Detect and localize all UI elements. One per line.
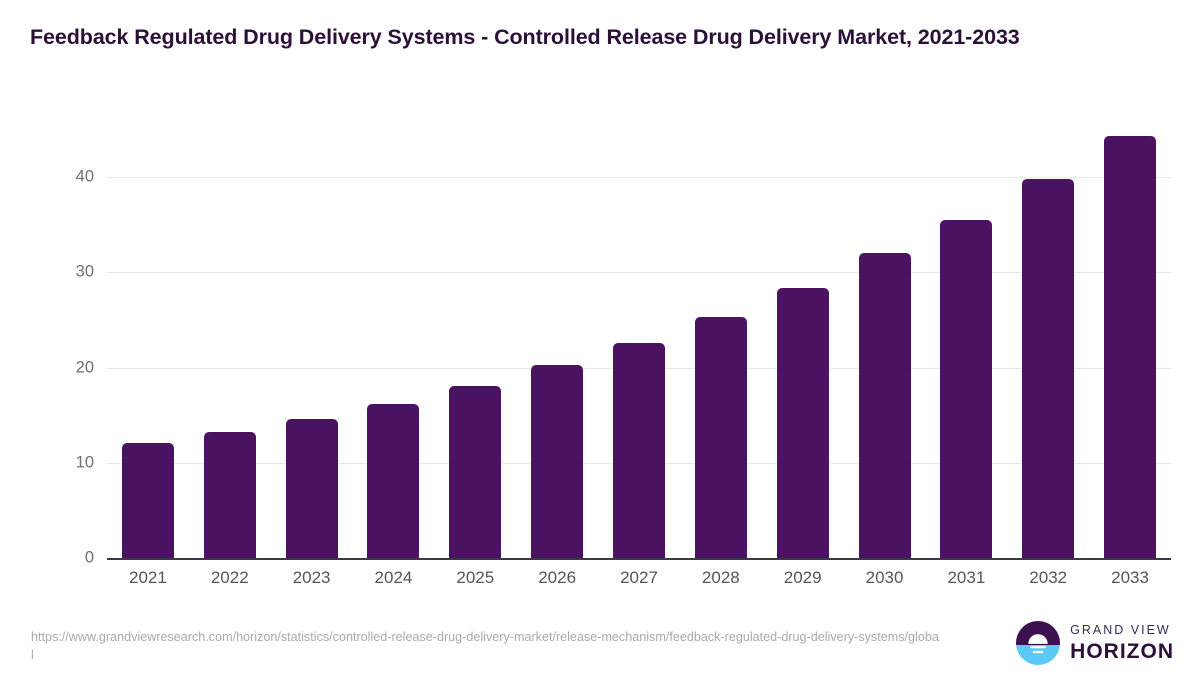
bar[interactable] (204, 432, 256, 558)
bar[interactable] (449, 386, 501, 558)
source-url[interactable]: https://www.grandviewresearch.com/horizo… (31, 628, 941, 664)
x-tick-label: 2029 (763, 568, 843, 588)
bar[interactable] (940, 220, 992, 558)
brand-line-horizon: HORIZON (1070, 641, 1174, 662)
chart-card: Feedback Regulated Drug Delivery Systems… (0, 0, 1200, 675)
bar[interactable] (859, 253, 911, 558)
bar[interactable] (613, 343, 665, 558)
grand-view-horizon-logo-icon (1016, 621, 1060, 665)
x-tick-label: 2024 (353, 568, 433, 588)
x-tick-label: 2028 (681, 568, 761, 588)
plot-area (107, 120, 1171, 558)
bar[interactable] (695, 317, 747, 558)
x-tick-label: 2027 (599, 568, 679, 588)
y-tick-label: 0 (44, 549, 94, 568)
x-axis-line (107, 558, 1171, 560)
chart-title: Feedback Regulated Drug Delivery Systems… (30, 22, 1160, 53)
bar[interactable] (777, 288, 829, 558)
bar[interactable] (286, 419, 338, 558)
x-tick-label: 2030 (845, 568, 925, 588)
x-tick-label: 2022 (190, 568, 270, 588)
gridline (107, 177, 1171, 178)
y-tick-label: 30 (44, 263, 94, 282)
x-tick-label: 2032 (1008, 568, 1088, 588)
y-tick-label: 10 (44, 453, 94, 472)
brand-logo: GRAND VIEW HORIZON (1016, 619, 1174, 667)
gridline (107, 272, 1171, 273)
x-tick-label: 2031 (926, 568, 1006, 588)
y-tick-label: 20 (44, 358, 94, 377)
y-tick-label: 40 (44, 168, 94, 187)
brand-line-grand-view: GRAND VIEW (1070, 624, 1174, 637)
x-tick-label: 2021 (108, 568, 188, 588)
x-tick-label: 2026 (517, 568, 597, 588)
bar[interactable] (1104, 136, 1156, 558)
bar[interactable] (122, 443, 174, 558)
bar[interactable] (367, 404, 419, 558)
x-tick-label: 2033 (1090, 568, 1170, 588)
brand-text: GRAND VIEW HORIZON (1070, 624, 1174, 662)
x-tick-label: 2023 (272, 568, 352, 588)
x-tick-label: 2025 (435, 568, 515, 588)
bar[interactable] (1022, 179, 1074, 558)
bar[interactable] (531, 365, 583, 558)
